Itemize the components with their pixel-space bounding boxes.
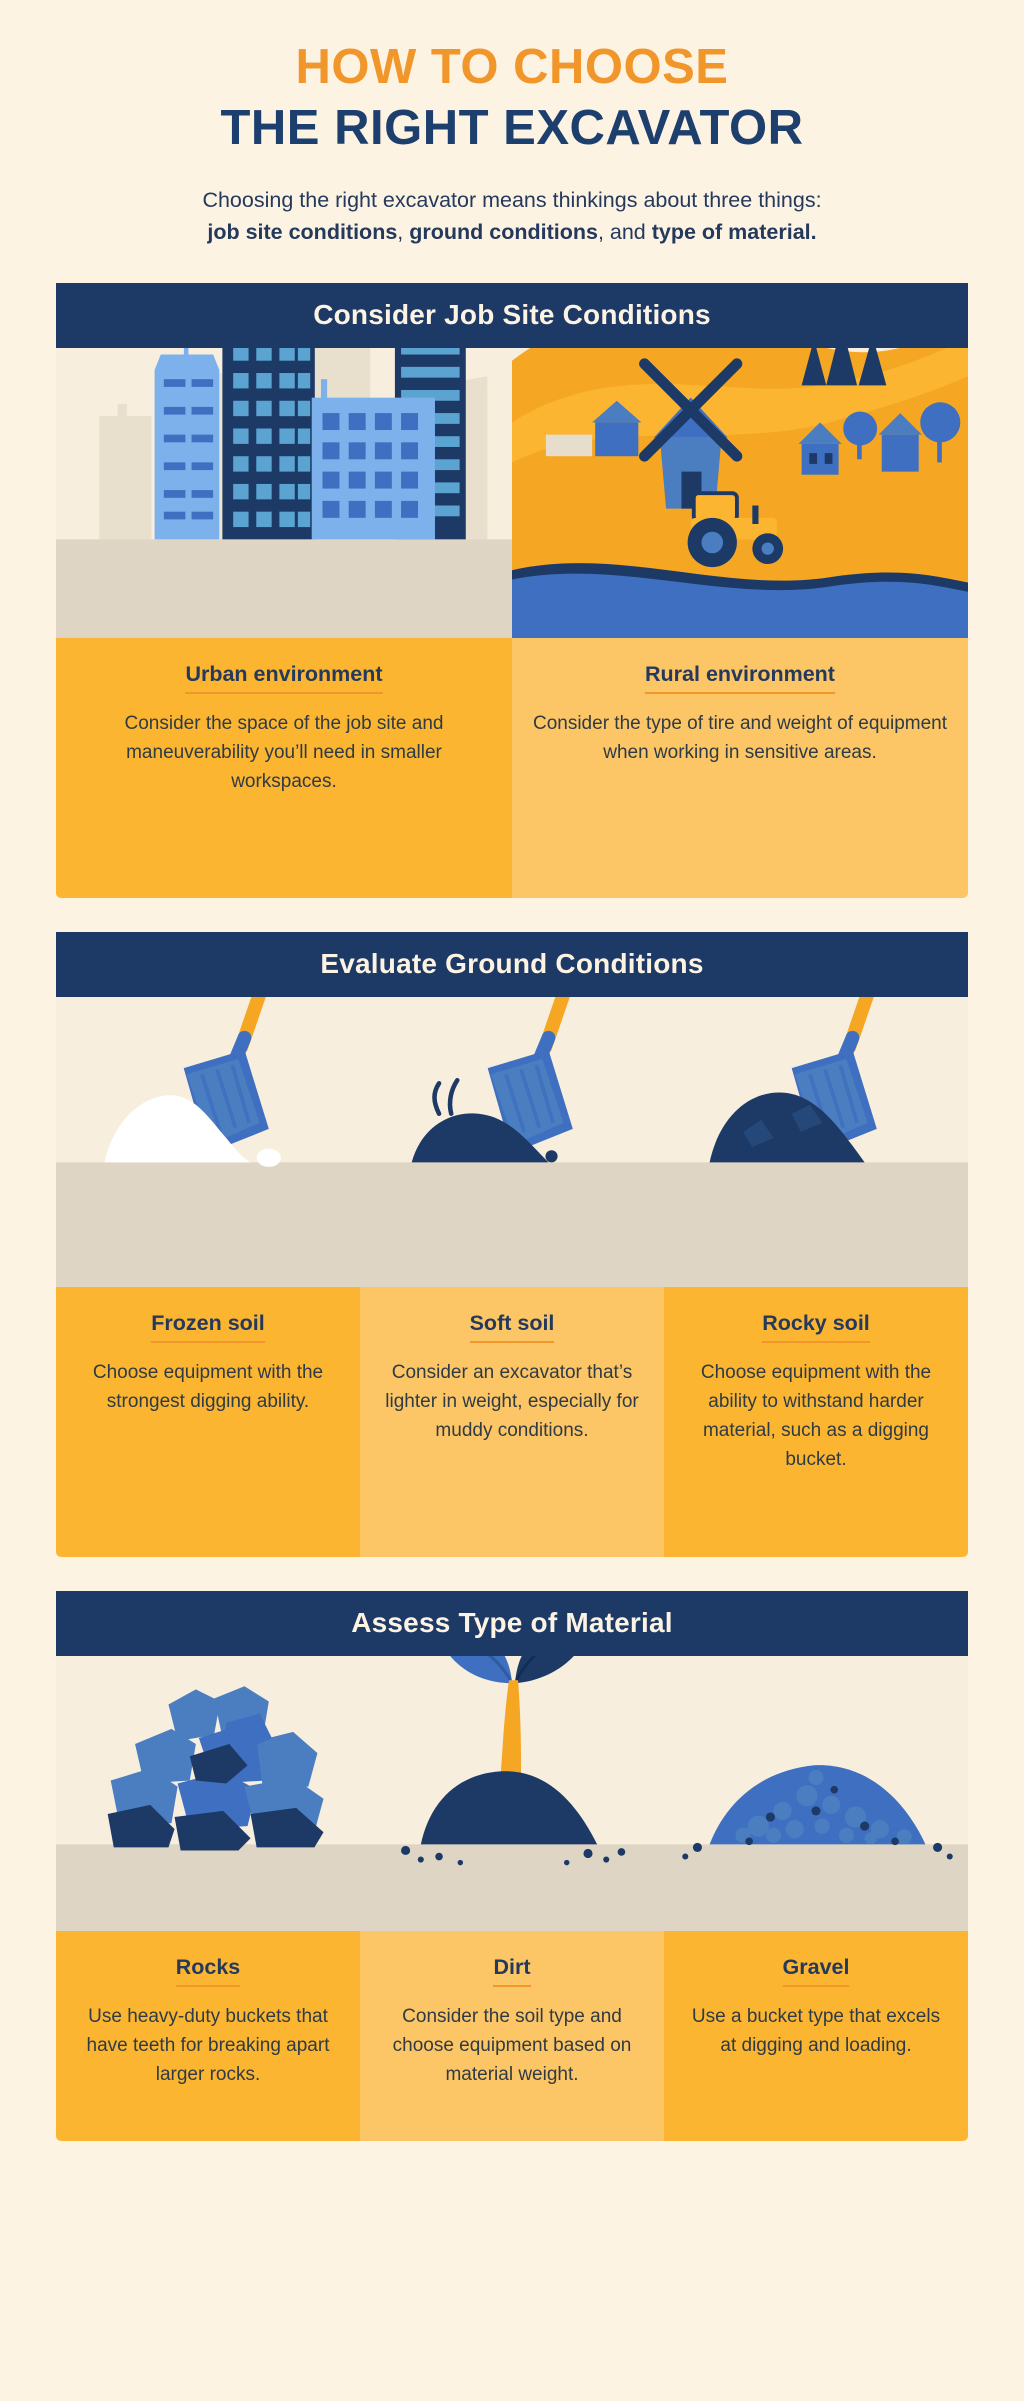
subtitle-bold-2: ground conditions	[409, 220, 598, 244]
shovel-rock-illustration	[664, 997, 968, 1287]
gravel-pile-illustration	[664, 1656, 968, 1931]
section-ground-conditions: Evaluate Ground Conditions	[56, 932, 968, 1557]
card-title-dirt: Dirt	[493, 1955, 530, 1987]
card-body-rocks: Rocks Use heavy-duty buckets that have t…	[56, 1931, 360, 2141]
section-type-of-material: Assess Type of Material	[56, 1591, 968, 2141]
card-body-frozen: Frozen soil Choose equipment with the st…	[56, 1287, 360, 1557]
card-row-1: Urban environment Consider the space of …	[56, 348, 968, 898]
card-title-rural: Rural environment	[645, 662, 835, 694]
card-text-soft: Consider an excavator that’s lighter in …	[380, 1359, 644, 1446]
page-subtitle: Choosing the right excavator means think…	[117, 184, 907, 249]
card-rocks[interactable]: Rocks Use heavy-duty buckets that have t…	[56, 1656, 360, 2141]
shovel-soil-illustration	[360, 997, 664, 1287]
card-rocky-soil[interactable]: Rocky soil Choose equipment with the abi…	[664, 997, 968, 1557]
section-band-title-2: Evaluate Ground Conditions	[56, 932, 968, 997]
card-title-urban: Urban environment	[185, 662, 382, 694]
card-row-3: Rocks Use heavy-duty buckets that have t…	[56, 1656, 968, 2141]
card-title-gravel: Gravel	[783, 1955, 850, 1987]
card-soft-soil[interactable]: Soft soil Consider an excavator that’s l…	[360, 997, 664, 1557]
section-band-title-1: Consider Job Site Conditions	[56, 283, 968, 348]
card-body-dirt: Dirt Consider the soil type and choose e…	[360, 1931, 664, 2141]
subtitle-mid: , and	[598, 220, 652, 244]
card-title-rocks: Rocks	[176, 1955, 241, 1987]
card-frozen-soil[interactable]: Frozen soil Choose equipment with the st…	[56, 997, 360, 1557]
subtitle-bold-3: type of material.	[652, 220, 817, 244]
subtitle-bold-1: job site conditions	[207, 220, 397, 244]
card-title-rocky: Rocky soil	[762, 1311, 870, 1343]
page-title-line-2: THE RIGHT EXCAVATOR	[60, 100, 964, 158]
card-text-urban: Consider the space of the job site and m…	[76, 710, 492, 797]
shovel-snow-illustration	[56, 997, 360, 1287]
card-urban-environment[interactable]: Urban environment Consider the space of …	[56, 348, 512, 898]
page-header: HOW TO CHOOSE THE RIGHT EXCAVATOR Choosi…	[0, 0, 1024, 249]
rock-pile-illustration	[56, 1656, 360, 1931]
card-title-soft: Soft soil	[470, 1311, 555, 1343]
card-rural-environment[interactable]: Rural environment Consider the type of t…	[512, 348, 968, 898]
subtitle-sep-1: ,	[397, 220, 409, 244]
card-text-rocks: Use heavy-duty buckets that have teeth f…	[76, 2003, 340, 2090]
section-band-title-3: Assess Type of Material	[56, 1591, 968, 1656]
card-text-rocky: Choose equipment with the ability to wit…	[684, 1359, 948, 1475]
card-body-urban: Urban environment Consider the space of …	[56, 638, 512, 898]
city-skyline-illustration	[56, 348, 512, 638]
card-title-frozen: Frozen soil	[151, 1311, 264, 1343]
subtitle-line-1: Choosing the right excavator means think…	[202, 188, 821, 212]
card-text-frozen: Choose equipment with the strongest digg…	[76, 1359, 340, 1417]
card-text-rural: Consider the type of tire and weight of …	[532, 710, 948, 768]
card-row-2: Frozen soil Choose equipment with the st…	[56, 997, 968, 1557]
card-body-gravel: Gravel Use a bucket type that excels at …	[664, 1931, 968, 2141]
sprout-dirt-illustration	[360, 1656, 664, 1931]
page-title-line-1: HOW TO CHOOSE	[60, 40, 964, 96]
card-body-rural: Rural environment Consider the type of t…	[512, 638, 968, 898]
card-body-soft: Soft soil Consider an excavator that’s l…	[360, 1287, 664, 1557]
section-job-site-conditions: Consider Job Site Conditions	[56, 283, 968, 898]
card-text-dirt: Consider the soil type and choose equipm…	[380, 2003, 644, 2090]
countryside-illustration	[512, 348, 968, 638]
card-gravel[interactable]: Gravel Use a bucket type that excels at …	[664, 1656, 968, 2141]
card-body-rocky: Rocky soil Choose equipment with the abi…	[664, 1287, 968, 1557]
infographic-page: HOW TO CHOOSE THE RIGHT EXCAVATOR Choosi…	[0, 0, 1024, 2181]
card-dirt[interactable]: Dirt Consider the soil type and choose e…	[360, 1656, 664, 2141]
card-text-gravel: Use a bucket type that excels at digging…	[684, 2003, 948, 2061]
